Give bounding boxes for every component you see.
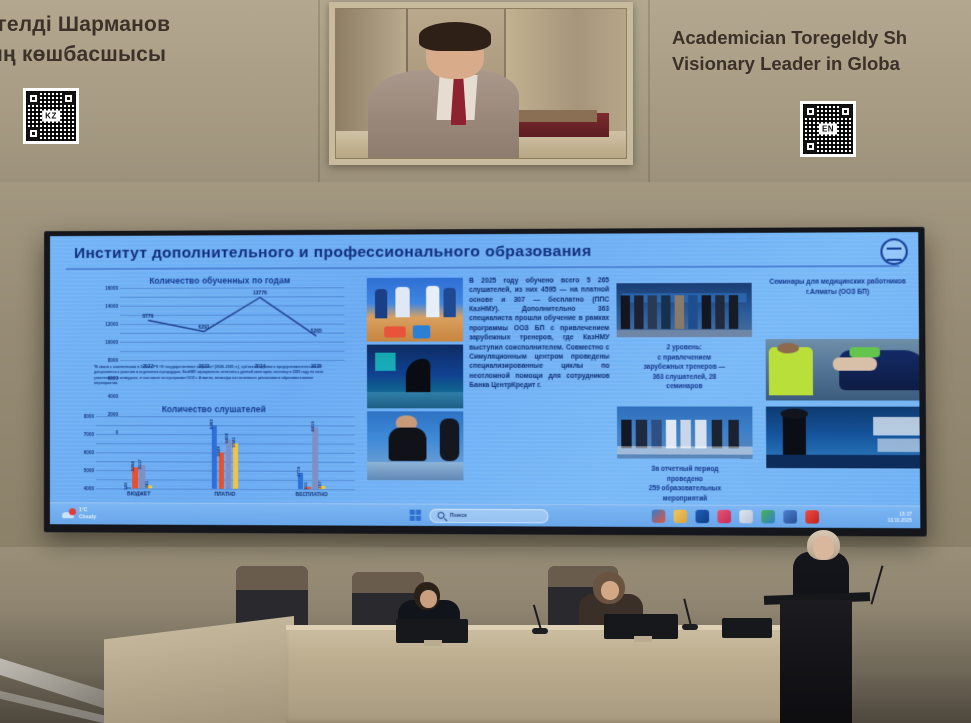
data-point-label: 13776 bbox=[253, 290, 267, 296]
y-axis-tick: 7000 bbox=[84, 432, 94, 437]
bar: 5045 bbox=[233, 443, 239, 489]
main-table bbox=[286, 630, 834, 723]
search-placeholder: Поиск bbox=[450, 512, 467, 518]
taskbar-app-icons bbox=[652, 510, 819, 524]
photo-simulation-training bbox=[367, 345, 463, 409]
folder-icon[interactable] bbox=[674, 510, 688, 523]
portrait-hair bbox=[419, 22, 492, 50]
qr-finder bbox=[62, 92, 75, 105]
pdf-icon[interactable] bbox=[805, 510, 819, 523]
y-axis-tick: 4000 bbox=[108, 394, 118, 399]
powerpoint-slide: Институт дополнительного и профессиональ… bbox=[50, 232, 920, 528]
x-axis-group-label: БЕСПЛАТНО bbox=[296, 492, 328, 498]
monitor-2-stand bbox=[634, 636, 652, 642]
banner-text-english: Academician Toregeldy Sh Visionary Leade… bbox=[672, 25, 971, 78]
caption-events-line3: 259 образовательных bbox=[617, 484, 752, 494]
y-axis-tick: 16000 bbox=[105, 285, 118, 290]
photo-cpr-practice bbox=[367, 411, 463, 480]
outlook-icon[interactable] bbox=[695, 510, 709, 523]
caption-events-line4: мероприятий bbox=[617, 494, 753, 504]
calculator-icon[interactable] bbox=[739, 510, 753, 523]
slide-title-rule bbox=[66, 265, 899, 270]
y-axis-tick: 8000 bbox=[108, 357, 118, 362]
conference-room-scene: өрегелді Шарманов удың көшбасшысы Academ… bbox=[0, 0, 971, 723]
search-icon bbox=[437, 512, 444, 519]
qr-code-en[interactable]: EN bbox=[800, 101, 856, 157]
banner-text-kazakh: өрегелді Шарманов удың көшбасшысы bbox=[0, 10, 290, 71]
bar-value-label: 2517 bbox=[137, 460, 142, 470]
bar-value-label: 6982 bbox=[209, 419, 214, 429]
person2-face bbox=[601, 581, 619, 600]
bar-value-label: 215 bbox=[303, 482, 308, 489]
photo-conference-stage bbox=[766, 407, 920, 469]
chair-headrest bbox=[236, 566, 308, 590]
photo-group-seminar bbox=[616, 283, 752, 337]
data-point-label: 5265 bbox=[311, 329, 322, 335]
x-axis-group-label: БЮДЖЕТ bbox=[127, 491, 150, 497]
clock-date: 13.10.2025 bbox=[887, 517, 911, 523]
bar: 6982 bbox=[211, 425, 217, 488]
wall-seam bbox=[648, 0, 650, 182]
windows-start-icon[interactable] bbox=[410, 510, 421, 521]
presenter-face bbox=[813, 536, 834, 560]
bar-chart-plot: 8000700060005000400030002000100001392284… bbox=[96, 416, 355, 489]
caption-level-2: 2 уровень: с привлечением зарубежных тре… bbox=[617, 343, 753, 392]
bar-value-label: 361 bbox=[145, 481, 150, 488]
monitor-3 bbox=[722, 618, 772, 638]
bar: 361 bbox=[147, 485, 153, 488]
bar: 215 bbox=[305, 487, 311, 489]
bar-chart-title: Количество слушателей bbox=[68, 404, 361, 414]
banner-en-line1: Academician Toregeldy Sh bbox=[672, 25, 971, 51]
y-axis-tick: 14000 bbox=[105, 303, 118, 308]
powerpoint-icon[interactable] bbox=[717, 510, 731, 523]
microphone-1-base bbox=[532, 628, 548, 634]
qr-finder bbox=[804, 140, 817, 153]
qr-finder bbox=[804, 105, 817, 118]
y-axis-tick: 8000 bbox=[84, 414, 94, 419]
caption-level2-line5: семинаров bbox=[617, 382, 752, 392]
line-chart: Количество обученных по годам 1600014000… bbox=[94, 275, 347, 360]
photo-ambulance-training bbox=[766, 339, 921, 401]
line-chart-title: Количество обученных по годам bbox=[94, 275, 346, 286]
person1-face bbox=[420, 590, 437, 608]
weather-widget[interactable]: 1°C Cloudy bbox=[62, 507, 96, 520]
qr-kz-label: KZ bbox=[42, 111, 60, 122]
bar-value-label: 6819 bbox=[310, 421, 315, 431]
bar: 6819 bbox=[312, 427, 318, 489]
bar-value-label: 5045 bbox=[231, 437, 236, 447]
chrome-icon[interactable] bbox=[761, 510, 775, 523]
qr-finder bbox=[27, 92, 40, 105]
weather-cloud-icon bbox=[62, 508, 76, 519]
slide-title: Институт дополнительного и профессиональ… bbox=[74, 243, 591, 263]
led-display-screen[interactable]: Институт дополнительного и профессиональ… bbox=[50, 232, 920, 528]
windows-taskbar[interactable]: 1°C Cloudy Поиск bbox=[50, 502, 920, 528]
wall-seam bbox=[318, 0, 320, 182]
photo-classroom bbox=[367, 278, 463, 342]
bar-chart: Количество слушателей 800070006000500040… bbox=[68, 404, 361, 489]
led-display-bezel: Институт дополнительного и профессиональ… bbox=[44, 227, 927, 537]
y-axis-tick: 4000 bbox=[84, 486, 94, 491]
bar-value-label: 2284 bbox=[130, 462, 135, 472]
qr-finder bbox=[839, 105, 852, 118]
y-axis-tick: 5000 bbox=[84, 468, 94, 473]
line-series bbox=[120, 287, 344, 360]
caption-seminars-almaty: Семинары для медицинских работников г.Ал… bbox=[759, 277, 917, 297]
caption-level2-line3: зарубежных тренеров — bbox=[617, 363, 752, 373]
search-input[interactable]: Поиск bbox=[429, 508, 548, 523]
qr-code-kz[interactable]: KZ bbox=[23, 88, 79, 144]
banner-en-line2: Visionary Leader in Globa bbox=[672, 51, 971, 77]
caption-events-line2: проведено bbox=[617, 474, 752, 484]
qr-finder bbox=[27, 127, 40, 140]
settings-icon[interactable] bbox=[783, 510, 797, 523]
taskbar-center: Поиск bbox=[410, 508, 549, 523]
photo-certificate-ceremony bbox=[617, 406, 753, 458]
bar-value-label: 139 bbox=[123, 482, 128, 489]
data-point-label: 8776 bbox=[142, 313, 153, 319]
podium bbox=[780, 600, 852, 723]
caption-events-line1: За отчетный период bbox=[617, 465, 752, 475]
banner-kz-line2: удың көшбасшысы bbox=[0, 40, 290, 70]
data-point-label: 6291 bbox=[198, 324, 209, 330]
caption-total-events: За отчетный период проведено 259 образов… bbox=[617, 465, 753, 505]
caption-level2-line1: 2 уровень: bbox=[617, 343, 752, 353]
y-axis-tick: 12000 bbox=[105, 321, 118, 326]
monitor-1-stand bbox=[424, 640, 442, 646]
portrait-painting bbox=[335, 8, 627, 159]
caption-level2-line2: с привлечением bbox=[617, 353, 752, 363]
kaznmu-emblem-icon bbox=[880, 238, 908, 265]
bar: 139 bbox=[125, 487, 131, 488]
grid-line: 0 bbox=[120, 360, 344, 361]
microphone-2-base bbox=[682, 624, 698, 630]
caption-level2-line4: 363 слушателей, 28 bbox=[617, 373, 752, 383]
y-axis-tick: 6000 bbox=[84, 450, 94, 455]
caption-seminars-text: Семинары для медицинских работников г.Ал… bbox=[769, 278, 905, 295]
chart-footnote: *В связи с изменениями в Законе РК «О го… bbox=[94, 365, 328, 386]
bar: 3948 bbox=[219, 453, 225, 489]
portrait-frame bbox=[329, 2, 633, 165]
bar-value-label: 3948 bbox=[216, 447, 221, 457]
edge-icon[interactable] bbox=[652, 510, 666, 523]
bar: 2284 bbox=[133, 468, 139, 489]
slide-center-text: В 2025 году обучено всего 5 265 слушател… bbox=[469, 276, 610, 390]
bar: 307 bbox=[320, 486, 326, 489]
qr-en-label: EN bbox=[819, 124, 837, 135]
y-axis-tick: 10000 bbox=[105, 339, 118, 344]
bar-value-label: 1774 bbox=[296, 467, 301, 477]
grid-line: 8000 bbox=[96, 416, 355, 417]
bar-value-label: 5458 bbox=[223, 433, 228, 443]
weather-condition: Cloudy bbox=[79, 514, 96, 520]
banner-kz-line1: өрегелді Шарманов bbox=[0, 10, 290, 40]
bar-value-label: 307 bbox=[317, 482, 322, 489]
line-chart-plot: 1600014000120001000080006000400020000877… bbox=[120, 287, 344, 360]
taskbar-clock[interactable]: 15:17 13.10.2025 bbox=[887, 511, 911, 523]
portrait-papers bbox=[516, 110, 597, 122]
x-axis-group-label: ПЛАТНО bbox=[214, 492, 235, 498]
